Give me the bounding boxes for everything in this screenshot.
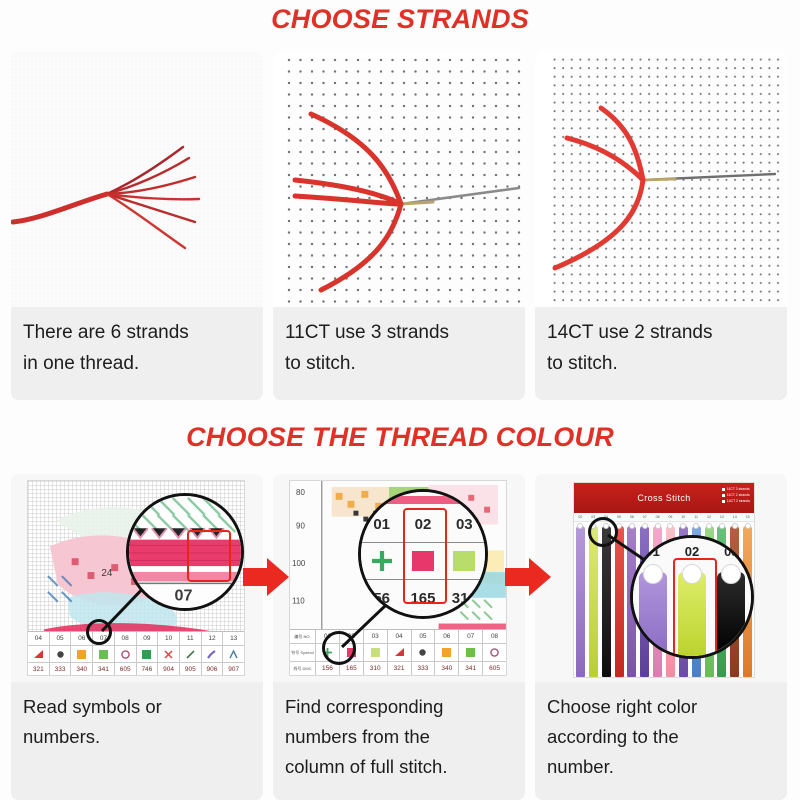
- needle-eye: [643, 179, 675, 180]
- magnifier-source-circle: [322, 631, 356, 665]
- magnifier-highlight-box: [403, 508, 447, 604]
- magnified-code: 310: [444, 580, 485, 616]
- card-caption-14ct: 14CT use 2 strands to stitch.: [535, 307, 787, 400]
- caption-line-1: Find corresponding: [285, 692, 513, 722]
- caption-line-2: to stitch.: [547, 348, 775, 379]
- pattern-chart-with-axis: 80 90 100 110: [289, 480, 507, 676]
- floss-bundle: [639, 572, 667, 656]
- caption-line-2: in one thread.: [23, 348, 251, 379]
- caption-line-1: 11CT use 3 strands: [285, 317, 513, 348]
- magnified-skeins: 01 02 03: [633, 538, 751, 656]
- card-read-symbols[interactable]: 24: [11, 474, 263, 800]
- card-caption-six-strands: There are 6 strands in one thread.: [11, 307, 263, 400]
- pattern-chart: 24: [27, 480, 245, 676]
- magnifier-lens: 01 02 03: [630, 535, 754, 659]
- card-caption-choose-color: Choose right color according to the numb…: [535, 682, 787, 800]
- flow-arrow-right-icon: [505, 557, 551, 597]
- card-caption-11ct: 11CT use 3 strands to stitch.: [273, 307, 525, 400]
- magnified-cell-number: 07: [175, 586, 193, 604]
- magnifier-highlight-box: [187, 530, 231, 582]
- magnifier-lens: 07: [126, 493, 244, 611]
- floss-bundle: [717, 572, 745, 656]
- caption-line-1: 14CT use 2 strands: [547, 317, 775, 348]
- card-14ct-two-strands[interactable]: 14CT use 2 strands to stitch.: [535, 52, 787, 400]
- caption-line-1: Choose right color: [547, 692, 775, 722]
- magnifier-highlight-box: [673, 558, 717, 658]
- thread-organizer-card: Cross Stitch 11CT 3 strands 11CT 2 stran…: [573, 482, 755, 678]
- section-title-choose-strands: CHOOSE STRANDS: [0, 4, 800, 35]
- six-strands-photo: [11, 52, 263, 307]
- magnified-stitch-band: [361, 496, 485, 504]
- card-choose-color[interactable]: Cross Stitch 11CT 3 strands 11CT 2 stran…: [535, 474, 787, 800]
- punch-hole-icon: [643, 564, 663, 584]
- caption-line-2: to stitch.: [285, 348, 513, 379]
- three-strands-needle-illustration: [273, 52, 525, 307]
- section-title-choose-thread-colour: CHOOSE THE THREAD COLOUR: [0, 422, 800, 453]
- magnified-skein: 01: [633, 538, 672, 656]
- card-caption-find-numbers: Find corresponding numbers from the colu…: [273, 682, 525, 800]
- magnified-number: 03: [444, 506, 485, 542]
- magnified-code: 56: [361, 580, 402, 616]
- full-stitch-column-photo: 80 90 100 110: [273, 474, 525, 682]
- needle-eye: [401, 202, 433, 204]
- caption-line-1: Read symbols or: [23, 692, 251, 722]
- card-11ct-three-strands[interactable]: 11CT use 3 strands to stitch.: [273, 52, 525, 400]
- magnified-symbol-green-square-icon: [444, 543, 485, 579]
- caption-line-2: numbers from the: [285, 722, 513, 752]
- magnifier-lens: 01 02 03: [358, 489, 488, 619]
- card-find-numbers[interactable]: 80 90 100 110: [273, 474, 525, 800]
- pattern-chart-photo: 24: [11, 474, 263, 682]
- two-strands-needle-illustration: [535, 52, 787, 307]
- 14ct-photo: [535, 52, 787, 307]
- card-six-strands[interactable]: There are 6 strands in one thread.: [11, 52, 263, 400]
- magnifier-source-circle: [86, 619, 112, 645]
- thread-colour-card-row: 24: [11, 474, 789, 800]
- card-caption-read-symbols: Read symbols or numbers.: [11, 682, 263, 800]
- flow-arrow-right-icon: [243, 557, 289, 597]
- magnifier-source-circle: [588, 517, 618, 547]
- infographic-page: CHOOSE STRANDS: [0, 0, 800, 800]
- caption-line-3: number.: [547, 752, 775, 782]
- magnified-skein-label: 01: [633, 544, 672, 559]
- caption-line-2: according to the: [547, 722, 775, 752]
- caption-line-2: numbers.: [23, 722, 251, 752]
- magnified-number: 01: [361, 506, 402, 542]
- magnified-symbol-green-plus-icon: [361, 543, 402, 579]
- caption-line-3: column of full stitch.: [285, 752, 513, 782]
- thread-splitting-illustration: [11, 52, 263, 307]
- thread-organizer-photo: Cross Stitch 11CT 3 strands 11CT 2 stran…: [535, 474, 787, 682]
- caption-line-1: There are 6 strands: [23, 317, 251, 348]
- magnified-legend: 01 02 03: [361, 492, 485, 616]
- magnified-skein-label: 03: [712, 544, 751, 559]
- magnified-skein: 03: [712, 538, 751, 656]
- 11ct-photo: [273, 52, 525, 307]
- magnified-skein-label: 02: [672, 544, 711, 559]
- strands-card-row: There are 6 strands in one thread.: [11, 52, 789, 400]
